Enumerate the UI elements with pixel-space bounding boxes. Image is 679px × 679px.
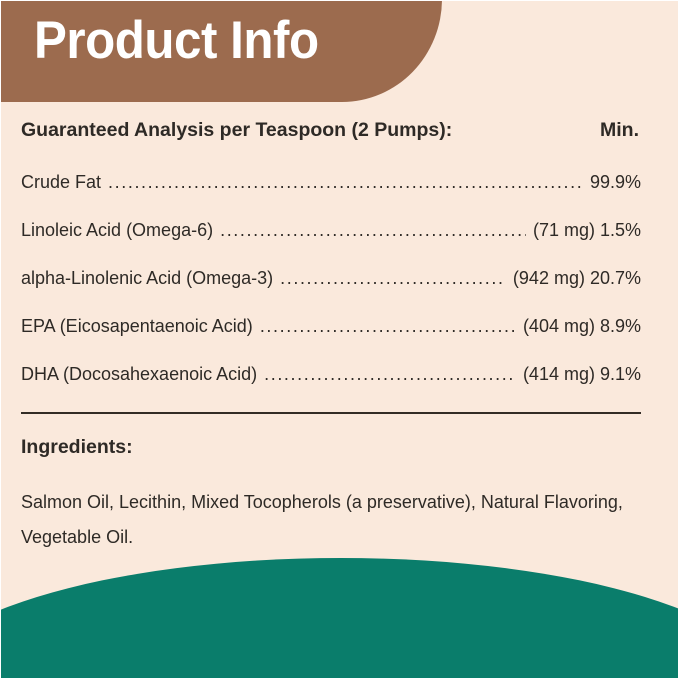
analysis-nutrient-name: EPA (Eicosapentaenoic Acid) <box>21 316 258 337</box>
footer-arc-decoration <box>0 558 679 679</box>
analysis-row: EPA (Eicosapentaenoic Acid) ............… <box>21 316 641 337</box>
analysis-row: alpha-Linolenic Acid (Omega-3) .........… <box>21 268 641 289</box>
label-content: Guaranteed Analysis per Teaspoon (2 Pump… <box>21 119 641 555</box>
analysis-nutrient-name: alpha-Linolenic Acid (Omega-3) <box>21 268 278 289</box>
guaranteed-analysis-header: Guaranteed Analysis per Teaspoon (2 Pump… <box>21 119 641 142</box>
analysis-row: Linoleic Acid (Omega-6) ................… <box>21 220 641 241</box>
analysis-nutrient-value: (942 mg) 20.7% <box>508 268 641 289</box>
analysis-nutrient-value: 99.9% <box>585 172 641 193</box>
ingredients-heading: Ingredients: <box>21 436 641 459</box>
analysis-row: DHA (Docosahexaenoic Acid) .............… <box>21 364 641 385</box>
header-banner: Product Info <box>0 0 442 102</box>
ingredients-text: Salmon Oil, Lecithin, Mixed Tocopherols … <box>21 485 646 555</box>
analysis-nutrient-name: Crude Fat <box>21 172 106 193</box>
dot-leader: ........................................… <box>280 269 506 287</box>
analysis-row: Crude Fat ..............................… <box>21 172 641 193</box>
dot-leader: ........................................… <box>108 173 583 191</box>
section-divider <box>21 412 641 414</box>
dot-leader: ........................................… <box>260 317 516 335</box>
analysis-nutrient-value: (404 mg) 8.9% <box>518 316 641 337</box>
dot-leader: ........................................… <box>220 221 526 239</box>
page-title: Product Info <box>34 11 319 72</box>
product-info-label: Product Info Guaranteed Analysis per Tea… <box>0 0 679 679</box>
analysis-nutrient-name: Linoleic Acid (Omega-6) <box>21 220 218 241</box>
analysis-nutrient-name: DHA (Docosahexaenoic Acid) <box>21 364 262 385</box>
guaranteed-analysis-list: Crude Fat ..............................… <box>21 172 641 385</box>
guaranteed-analysis-title: Guaranteed Analysis per Teaspoon (2 Pump… <box>21 119 452 142</box>
analysis-nutrient-value: (414 mg) 9.1% <box>518 364 641 385</box>
dot-leader: ........................................… <box>264 365 516 383</box>
analysis-nutrient-value: (71 mg) 1.5% <box>528 220 641 241</box>
guaranteed-analysis-min-column-header: Min. <box>600 119 641 142</box>
